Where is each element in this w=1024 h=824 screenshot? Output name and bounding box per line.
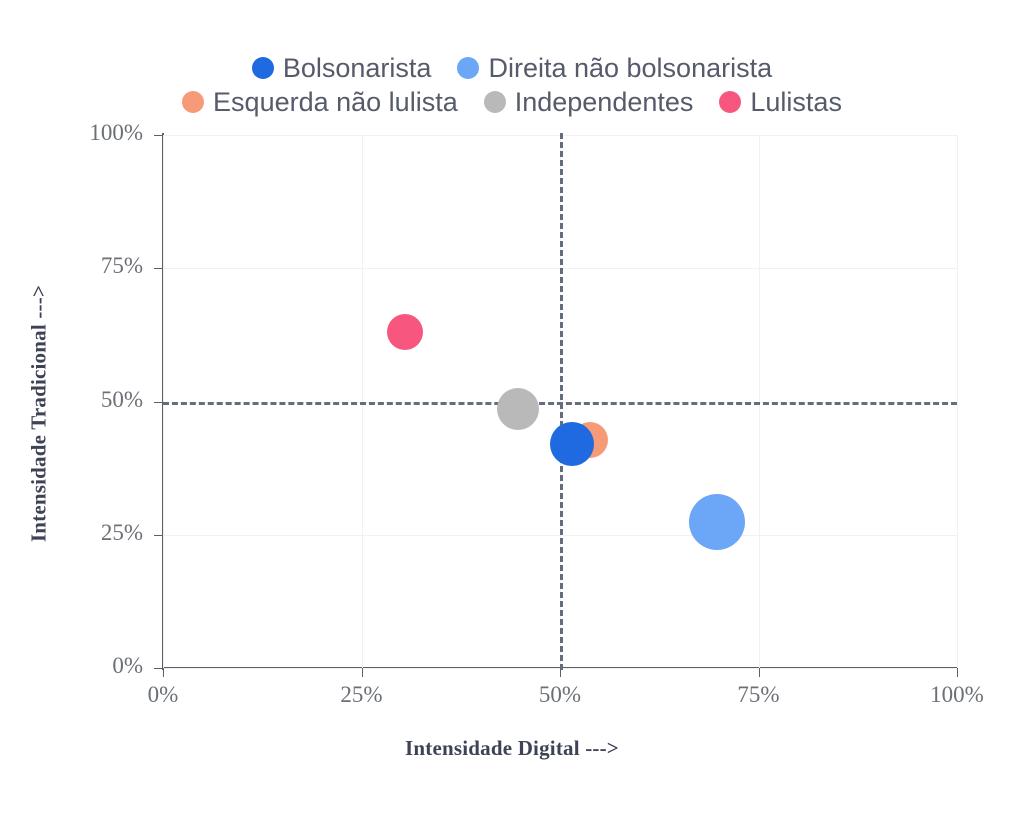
gridline-vertical [957,135,958,668]
legend-row: BolsonaristaDireita não bolsonarista [252,52,772,84]
data-point-direita-n-o-bolsonarista[interactable] [689,494,745,550]
legend-label: Esquerda não lulista [213,86,458,118]
legend-row: Esquerda não lulistaIndependentesLulista… [182,86,842,118]
x-axis-title: Intensidade Digital ---> [0,736,1024,761]
x-axis-tick [759,668,760,677]
y-axis-tick [154,268,163,269]
y-axis-tick [154,535,163,536]
y-axis-title: Intensidade Tradicional ---> [27,114,52,714]
y-axis-tick [154,668,163,669]
x-axis-tick [362,668,363,677]
legend-item-direita-n-o-bolsonarista[interactable]: Direita não bolsonarista [457,52,772,84]
legend-item-bolsonarista[interactable]: Bolsonarista [252,52,432,84]
legend-label: Direita não bolsonarista [488,52,772,84]
legend-label: Lulistas [750,86,842,118]
y-axis-tick [154,402,163,403]
legend-marker-icon [252,57,274,79]
legend-item-esquerda-n-o-lulista[interactable]: Esquerda não lulista [182,86,458,118]
x-axis-tick-label: 25% [302,682,422,708]
legend-item-independentes[interactable]: Independentes [484,86,694,118]
legend-item-lulistas[interactable]: Lulistas [719,86,842,118]
x-axis-tick-label: 75% [699,682,819,708]
x-axis-tick-label: 0% [103,682,223,708]
data-point-lulistas[interactable] [387,314,423,350]
y-axis-tick [154,135,163,136]
legend-marker-icon [457,57,479,79]
bubble-chart: BolsonaristaDireita não bolsonaristaEsqu… [0,0,1024,824]
legend-label: Independentes [515,86,694,118]
reference-line-horizontal [163,402,957,405]
chart-legend: BolsonaristaDireita não bolsonaristaEsqu… [0,52,1024,118]
legend-label: Bolsonarista [283,52,432,84]
plot-area: 0%25%50%75%100%0%25%50%75%100% [163,135,957,668]
x-axis-tick-label: 100% [897,682,1017,708]
data-point-independentes[interactable] [497,388,539,430]
legend-marker-icon [719,91,741,113]
x-axis-tick [957,668,958,677]
x-axis-tick-label: 50% [500,682,620,708]
legend-marker-icon [484,91,506,113]
legend-marker-icon [182,91,204,113]
data-point-bolsonarista[interactable] [550,422,594,466]
x-axis-tick [163,668,164,677]
